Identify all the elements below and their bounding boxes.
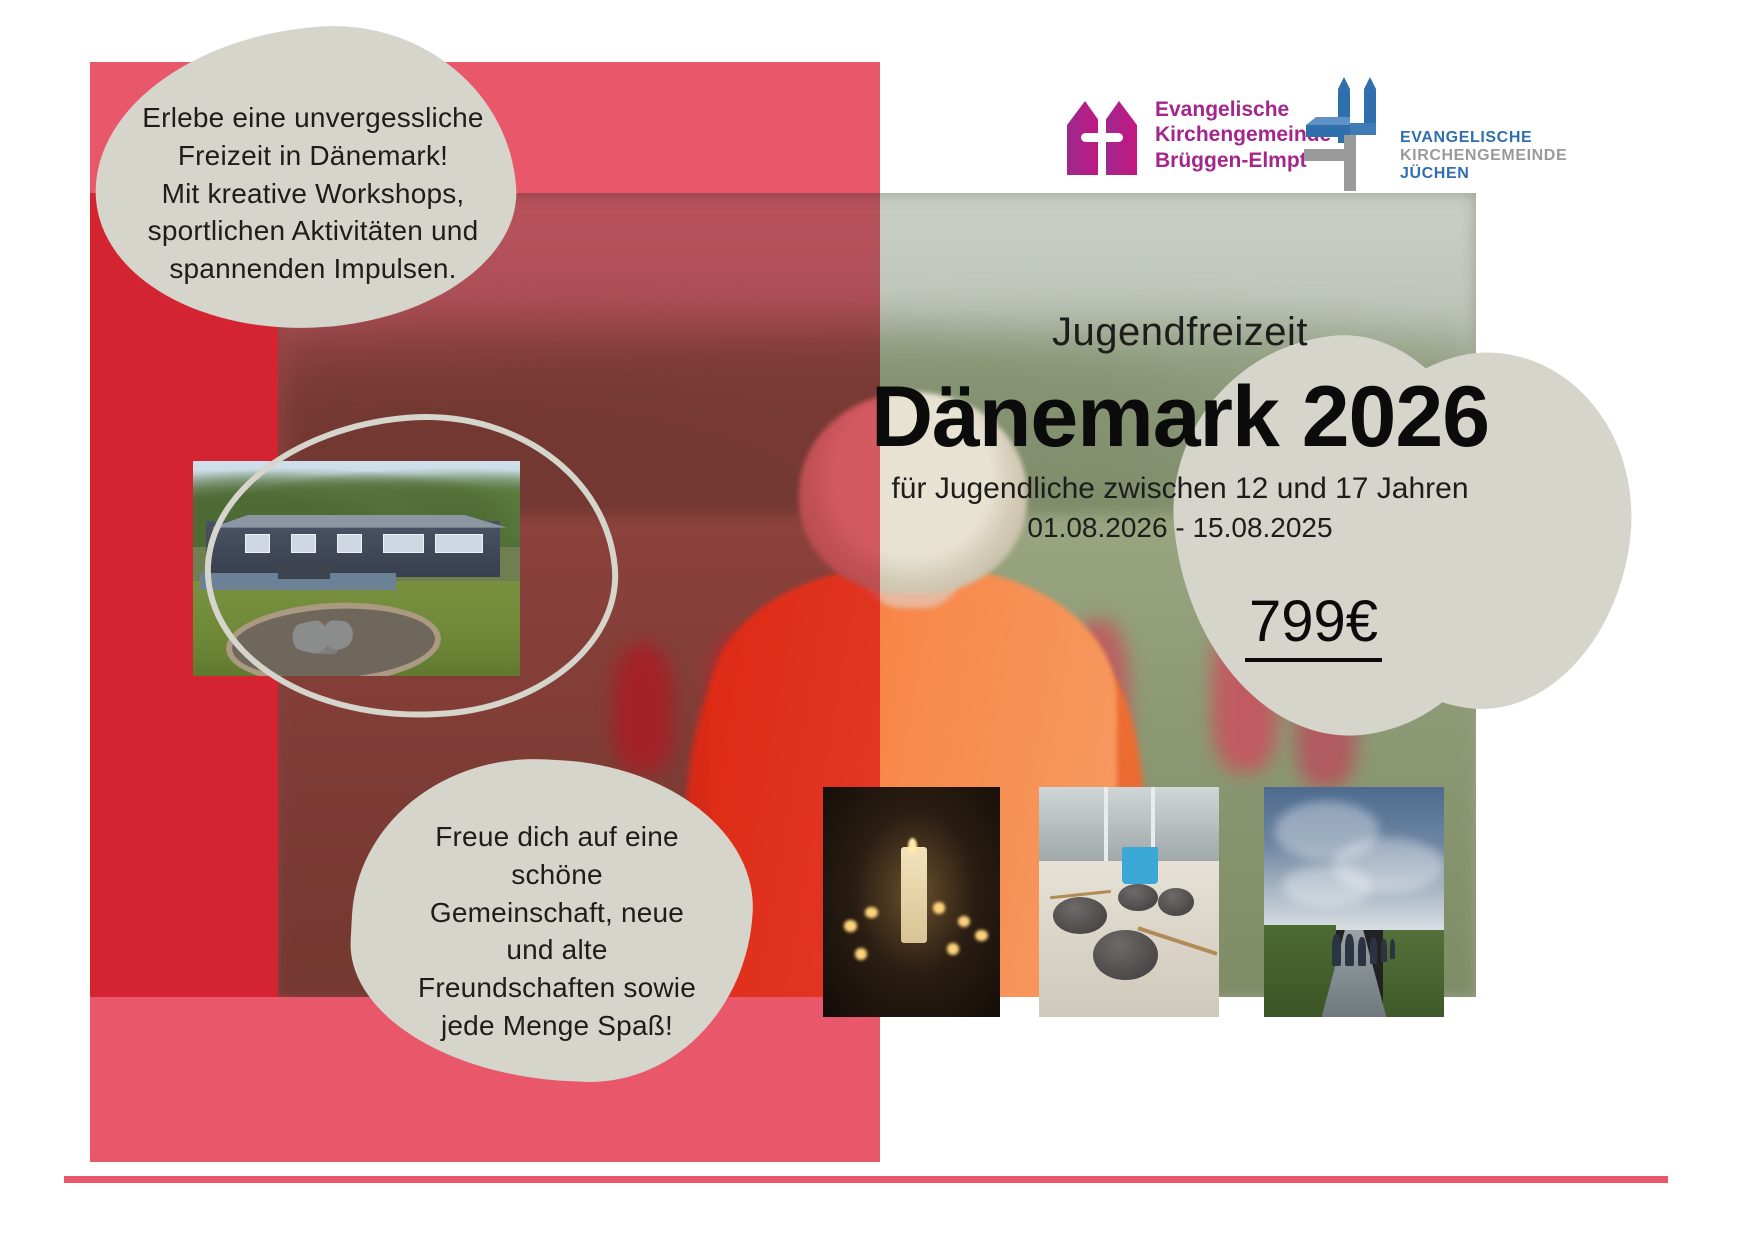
- tealight: [933, 902, 945, 914]
- logo-line-2: KIRCHENGEMEINDE: [1400, 147, 1567, 165]
- intro-line: sportlichen Aktivitäten und: [118, 212, 508, 250]
- intro-line: Freundschaften sowie: [392, 969, 722, 1007]
- intro-line: schöne: [392, 856, 722, 894]
- walking-person: [1390, 939, 1395, 960]
- double-cross-icon: [1300, 75, 1392, 193]
- storm-cloud: [1282, 865, 1372, 906]
- price-value: 799€: [1245, 589, 1382, 662]
- intro-line: Freizeit in Dänemark!: [118, 137, 508, 175]
- photo-pottery-workshop: [1039, 787, 1219, 1017]
- intro-line: Gemeinschaft, neue: [392, 894, 722, 932]
- price-container: 799€: [1245, 592, 1382, 653]
- subtitle-age-range: für Jugendliche zwischen 12 und 17 Jahre…: [880, 472, 1480, 506]
- walking-person: [1332, 934, 1341, 966]
- walking-person: [1370, 937, 1377, 965]
- tealight: [947, 943, 959, 955]
- intro-line: Freue dich auf eine: [392, 818, 722, 856]
- church-house-cross-icon: [1063, 95, 1141, 175]
- blue-cup: [1122, 847, 1158, 884]
- date-range: 01.08.2026 - 15.08.2025: [880, 512, 1480, 544]
- clay-bowl: [1158, 888, 1194, 916]
- logo-brueggen-elmpt: Evangelische Kirchengemeinde Brüggen-Elm…: [1063, 95, 1331, 175]
- intro-line: jede Menge Spaß!: [392, 1007, 722, 1045]
- candle-flame: [908, 838, 917, 854]
- photo-candles-at-night: [823, 787, 1000, 1017]
- logo-juechen: EVANGELISCHE KIRCHENGEMEINDE JÜCHEN: [1300, 75, 1567, 193]
- kicker-jugendfreizeit: Jugendfreizeit: [880, 310, 1480, 355]
- candle-pillar: [901, 847, 928, 944]
- tealight: [975, 930, 987, 942]
- tealight: [855, 948, 867, 960]
- tealight: [958, 916, 970, 928]
- walk-grass-left: [1264, 925, 1336, 1017]
- intro-line: spannenden Impulsen.: [118, 250, 508, 288]
- window-mullion: [1104, 787, 1108, 870]
- poster-canvas: Erlebe eine unvergessliche Freizeit in D…: [0, 0, 1754, 1240]
- intro-blurb-top: Erlebe eine unvergessliche Freizeit in D…: [118, 99, 508, 288]
- tealight: [865, 907, 877, 919]
- clay-bowl: [1118, 884, 1158, 912]
- logo-line-3: JÜCHEN: [1400, 165, 1567, 183]
- bottom-accent-rule: [64, 1176, 1668, 1183]
- photo-group-walking-stormy-sky: [1264, 787, 1444, 1017]
- page-title-daenemark-2026: Dänemark 2026: [830, 368, 1530, 467]
- intro-line: und alte: [392, 931, 722, 969]
- walking-person: [1345, 934, 1354, 966]
- tealight: [844, 920, 856, 932]
- logo-juechen-text: EVANGELISCHE KIRCHENGEMEINDE JÜCHEN: [1400, 129, 1567, 193]
- clay-bowl: [1093, 930, 1158, 981]
- logo-line-1: EVANGELISCHE: [1400, 129, 1567, 147]
- intro-line: Mit kreative Workshops,: [118, 175, 508, 213]
- intro-blurb-bottom: Freue dich auf eine schöne Gemeinschaft,…: [392, 818, 722, 1045]
- intro-line: Erlebe eine unvergessliche: [118, 99, 508, 137]
- walking-person: [1381, 939, 1387, 962]
- walking-person: [1358, 937, 1366, 967]
